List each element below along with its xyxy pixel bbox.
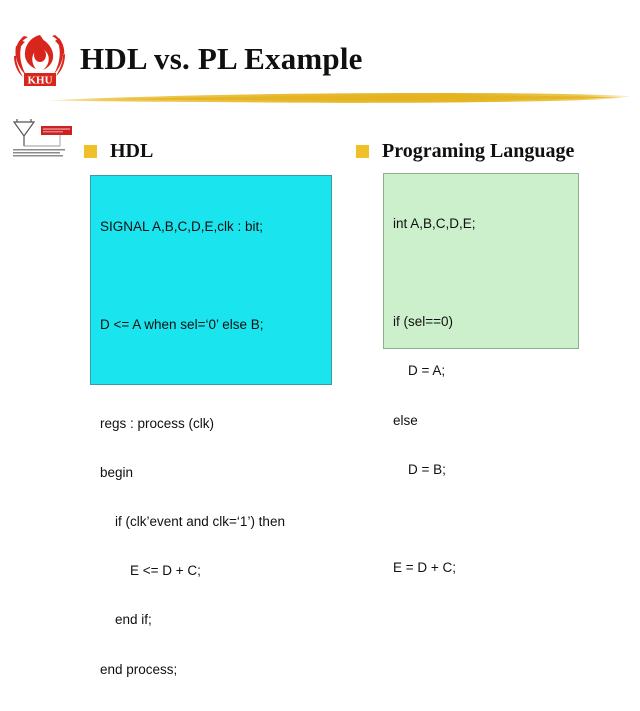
code-line xyxy=(393,265,578,281)
lab-logo xyxy=(8,116,78,160)
code-line: E = D + C; xyxy=(393,560,578,576)
code-line: D = B; xyxy=(393,462,578,478)
code-line: E <= D + C; xyxy=(100,563,331,579)
bullet-square-icon xyxy=(356,145,369,158)
code-line xyxy=(393,511,578,527)
code-line: if (clk’event and clk=‘1’) then xyxy=(100,514,331,530)
logic-gate-icon xyxy=(8,116,78,160)
code-box-hdl: SIGNAL A,B,C,D,E,clk : bit; D <= A when … xyxy=(90,175,332,385)
code-line: else xyxy=(393,413,578,429)
title-underline-brushstroke xyxy=(44,88,632,105)
page-title: HDL vs. PL Example xyxy=(80,41,363,77)
code-line: int A,B,C,D,E; xyxy=(393,216,578,232)
code-line: SIGNAL A,B,C,D,E,clk : bit; xyxy=(100,219,331,235)
code-line: D = A; xyxy=(393,363,578,379)
code-line xyxy=(100,366,331,382)
code-line: D <= A when sel=‘0’ else B; xyxy=(100,317,331,333)
slide-canvas: KHU HDL vs. PL Example xyxy=(0,0,640,480)
code-line: end process; xyxy=(100,662,331,678)
code-box-programming-language: int A,B,C,D,E; if (sel==0) D = A; else D… xyxy=(383,173,579,349)
code-line xyxy=(100,268,331,284)
brushstroke-icon xyxy=(44,88,632,105)
code-line: end if; xyxy=(100,612,331,628)
khu-crest-icon: KHU xyxy=(12,30,68,88)
bullet-heading-programming-language: Programing Language xyxy=(356,140,574,163)
bullet-square-icon xyxy=(84,145,97,158)
code-line: begin xyxy=(100,465,331,481)
code-line: if (sel==0) xyxy=(393,314,578,330)
khu-wordmark: KHU xyxy=(27,75,52,87)
bullet-label-hdl: HDL xyxy=(110,140,153,163)
khu-university-logo: KHU xyxy=(12,30,68,88)
bullet-label-programming-language: Programing Language xyxy=(382,140,574,163)
code-line: regs : process (clk) xyxy=(100,416,331,432)
bullet-heading-hdl: HDL xyxy=(84,140,153,163)
